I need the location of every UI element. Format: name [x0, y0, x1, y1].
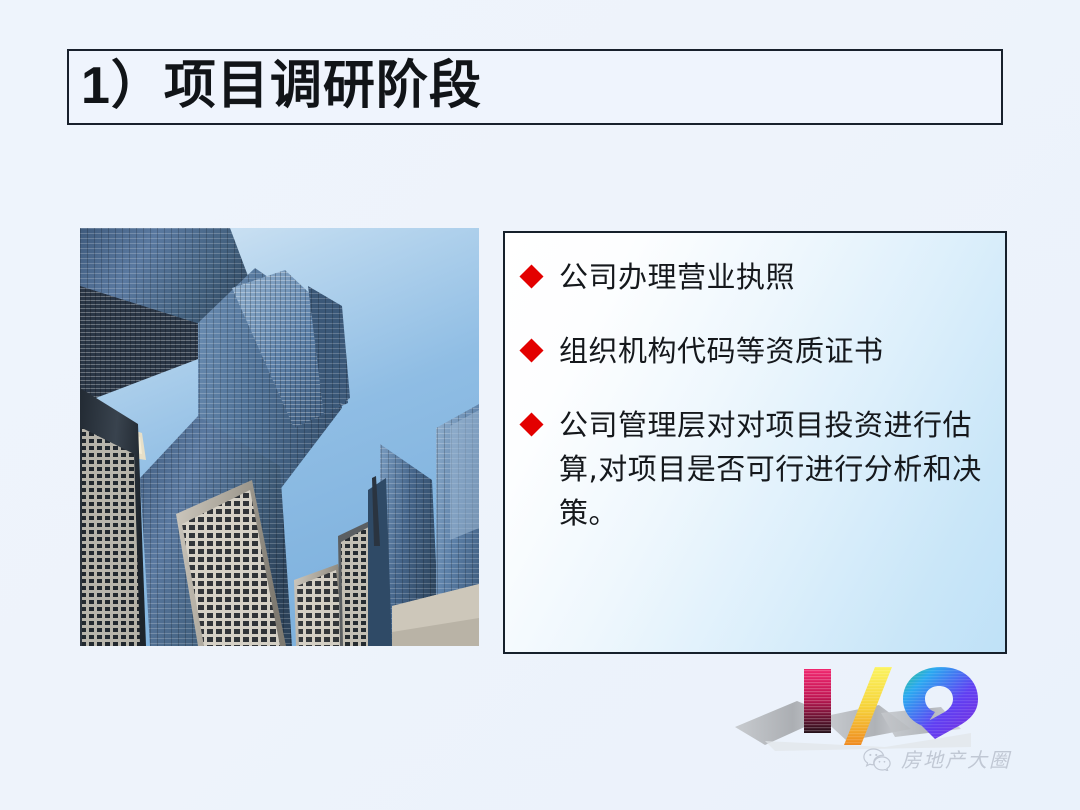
page-title: 1）项目调研阶段 — [81, 60, 482, 112]
bullet-panel: 公司办理营业执照 组织机构代码等资质证书 公司管理层对对项目投资进行估算,对项目… — [503, 231, 1007, 654]
list-item: 组织机构代码等资质证书 — [523, 329, 989, 373]
list-item: 公司办理营业执照 — [523, 255, 989, 299]
bullet-text: 组织机构代码等资质证书 — [559, 329, 884, 373]
wechat-watermark: 房地产大圈 — [862, 744, 1011, 773]
slide-canvas: 1）项目调研阶段 — [0, 0, 1080, 810]
diamond-bullet-icon — [519, 264, 543, 288]
diamond-bullet-icon — [519, 339, 543, 363]
skyscraper-photo-art — [80, 228, 479, 646]
skyscraper-photo — [80, 228, 479, 646]
slide-title-box: 1）项目调研阶段 — [67, 49, 1003, 125]
bullet-list: 公司办理营业执照 组织机构代码等资质证书 公司管理层对对项目投资进行估算,对项目… — [523, 255, 989, 535]
bullet-text: 公司办理营业执照 — [559, 255, 795, 299]
list-item: 公司管理层对对项目投资进行估算,对项目是否可行进行分析和决策。 — [523, 403, 989, 535]
bullet-text: 公司管理层对对项目投资进行估算,对项目是否可行进行分析和决策。 — [559, 403, 989, 535]
watermark-label: 房地产大圈 — [901, 744, 1011, 773]
diamond-bullet-icon — [519, 413, 543, 437]
wechat-icon — [862, 747, 892, 771]
